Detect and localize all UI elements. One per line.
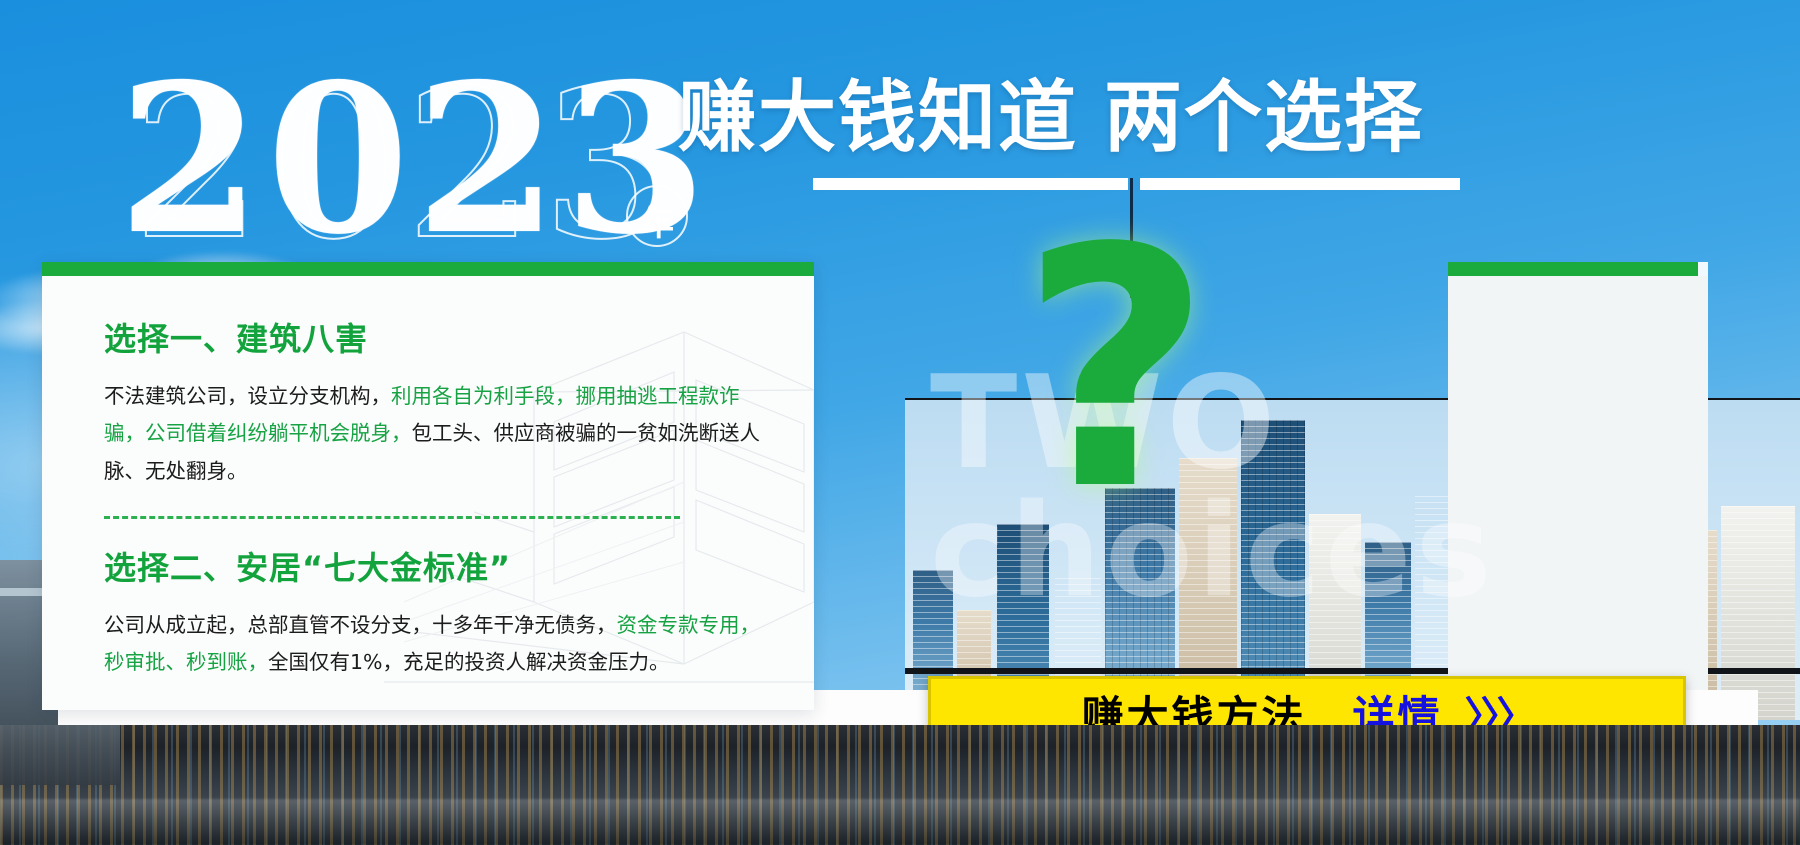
option-2-title: 选择二、安居“七大金标准”: [104, 543, 770, 589]
option-2-body: 公司从成立起，总部直管不设分支，十多年干净无债务，资金专款专用，秒审批、秒到账，…: [104, 607, 770, 682]
right-frame-green-bar: [1448, 262, 1698, 276]
question-mark-icon: ?: [1020, 205, 1211, 535]
headline-part-1: 赚大钱知道: [678, 73, 1078, 163]
poster-canvas: 2023 2023 年 赚大钱知道两个选择 TWO choices ?: [0, 0, 1800, 845]
year-suffix-ring: [626, 185, 688, 247]
option-1-title: 选择一、建筑八害: [104, 314, 770, 360]
year-suffix: 年: [640, 196, 674, 245]
watermark-choices: choices: [930, 488, 1496, 616]
headline-part-2: 两个选择: [1104, 73, 1424, 163]
options-card: 选择一、建筑八害 不法建筑公司，设立分支机构，利用各自为利手段，挪用抽逃工程款诈…: [42, 262, 814, 710]
option-2-body-plain-1: 公司从成立起，总部直管不设分支，十多年干净无债务，: [104, 613, 617, 637]
option-1-body: 不法建筑公司，设立分支机构，利用各自为利手段，挪用抽逃工程款诈骗，公司借着纠纷躺…: [104, 378, 770, 490]
option-1-body-plain-1: 不法建筑公司，设立分支机构，: [104, 384, 391, 408]
year-number: 2023: [118, 58, 713, 263]
option-2-body-plain-2: 全国仅有1%，充足的投资人解决资金压力。: [268, 650, 670, 674]
waterfront-strip: [0, 725, 1800, 845]
page-title: 赚大钱知道两个选择: [678, 78, 1424, 160]
section-divider: [104, 516, 680, 519]
